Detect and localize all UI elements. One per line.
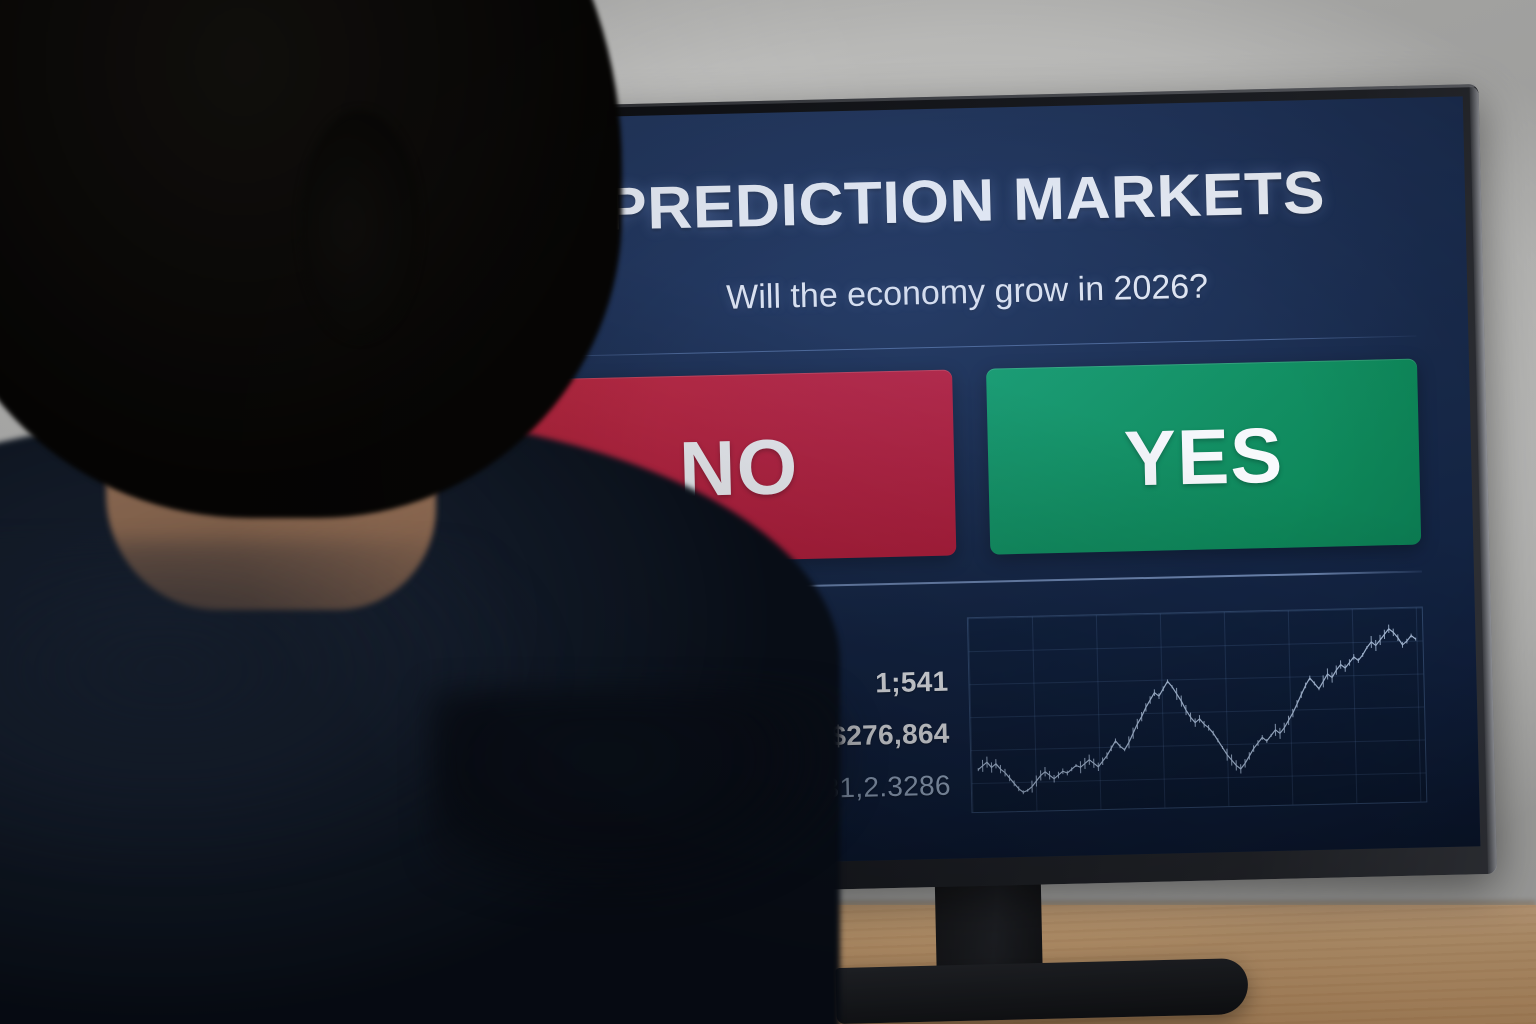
photo-scene: PREDICTION MARKETS Will the economy grow… — [0, 0, 1536, 1024]
hair-over-ear — [300, 110, 420, 340]
shoulder-occlusion — [430, 690, 1050, 1024]
vote-yes-button[interactable]: YES — [986, 359, 1421, 555]
